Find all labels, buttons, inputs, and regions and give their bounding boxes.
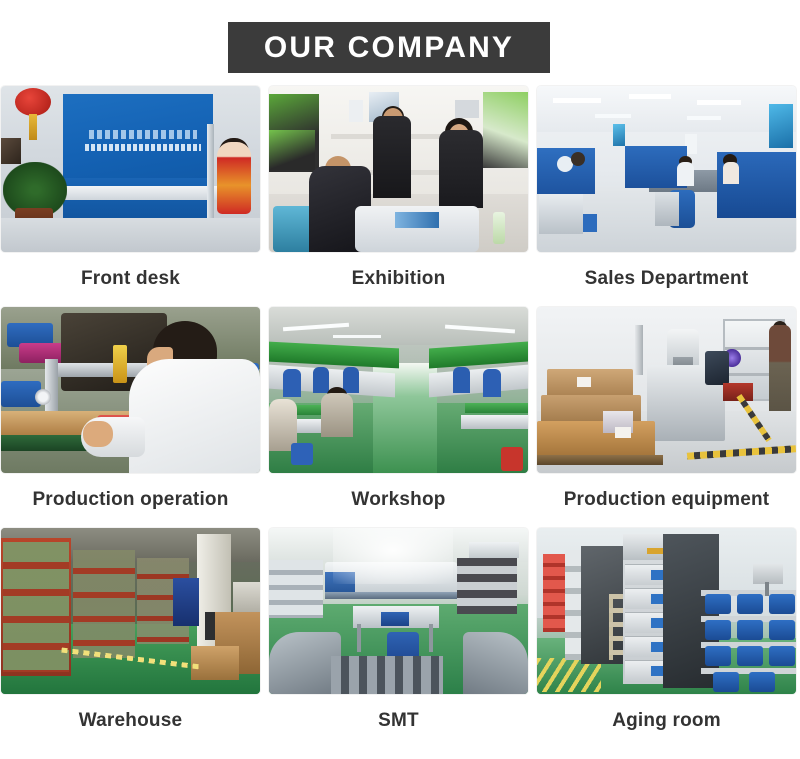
caption-cell-exhibition: Exhibition (269, 268, 528, 290)
doll-decoration (217, 142, 251, 214)
caption-warehouse: Warehouse (79, 710, 183, 731)
caption-cell-aging-room: Aging room (537, 710, 796, 732)
gallery-cell-smt[interactable] (269, 528, 528, 694)
photo-aging-room[interactable] (537, 528, 796, 694)
photo-front-desk[interactable] (1, 86, 260, 252)
gallery-row-3-images (0, 528, 800, 694)
caption-cell-smt: SMT (269, 710, 528, 732)
photo-sales-department[interactable] (537, 86, 796, 252)
gallery-row-2: Production operation Workshop Production… (0, 307, 800, 527)
gallery-row-1: Front desk Exhibition Sales Department (0, 86, 800, 306)
page-title-banner: OUR COMPANY (228, 22, 550, 73)
caption-workshop: Workshop (351, 489, 445, 510)
company-sign-english (85, 144, 201, 151)
gallery-cell-warehouse[interactable] (1, 528, 260, 694)
gallery-row-1-images (0, 86, 800, 252)
company-gallery-page: OUR COMPANY (0, 0, 800, 759)
caption-production-operation: Production operation (32, 489, 228, 510)
caption-production-equipment: Production equipment (564, 489, 770, 510)
caption-cell-front-desk: Front desk (1, 268, 260, 290)
gallery-row-3: Warehouse SMT Aging room (0, 528, 800, 748)
caption-exhibition: Exhibition (352, 268, 446, 289)
photo-warehouse[interactable] (1, 528, 260, 694)
caption-front-desk: Front desk (81, 268, 180, 289)
caption-aging-room: Aging room (612, 710, 721, 731)
caption-cell-warehouse: Warehouse (1, 710, 260, 732)
gallery-cell-workshop[interactable] (269, 307, 528, 473)
gallery-cell-sales-department[interactable] (537, 86, 796, 252)
lantern-decoration (15, 88, 51, 116)
gallery-cell-production-equipment[interactable] (537, 307, 796, 473)
gallery-cell-front-desk[interactable] (1, 86, 260, 252)
caption-cell-sales-department: Sales Department (537, 268, 796, 290)
caption-sales-department: Sales Department (585, 268, 749, 289)
photo-workshop[interactable] (269, 307, 528, 473)
photo-production-operation[interactable] (1, 307, 260, 473)
page-title: OUR COMPANY (264, 33, 514, 63)
caption-cell-production-operation: Production operation (1, 489, 260, 511)
gallery-cell-aging-room[interactable] (537, 528, 796, 694)
company-sign-chinese (89, 130, 197, 139)
gallery-grid: Front desk Exhibition Sales Department (0, 86, 800, 749)
caption-cell-production-equipment: Production equipment (537, 489, 796, 511)
gallery-cell-production-operation[interactable] (1, 307, 260, 473)
caption-cell-workshop: Workshop (269, 489, 528, 511)
photo-production-equipment[interactable] (537, 307, 796, 473)
caption-smt: SMT (378, 710, 419, 731)
photo-exhibition[interactable] (269, 86, 528, 252)
photo-smt[interactable] (269, 528, 528, 694)
gallery-row-3-labels: Warehouse SMT Aging room (0, 694, 800, 748)
gallery-row-2-images (0, 307, 800, 473)
gallery-row-1-labels: Front desk Exhibition Sales Department (0, 252, 800, 306)
gallery-cell-exhibition[interactable] (269, 86, 528, 252)
gallery-row-2-labels: Production operation Workshop Production… (0, 473, 800, 527)
